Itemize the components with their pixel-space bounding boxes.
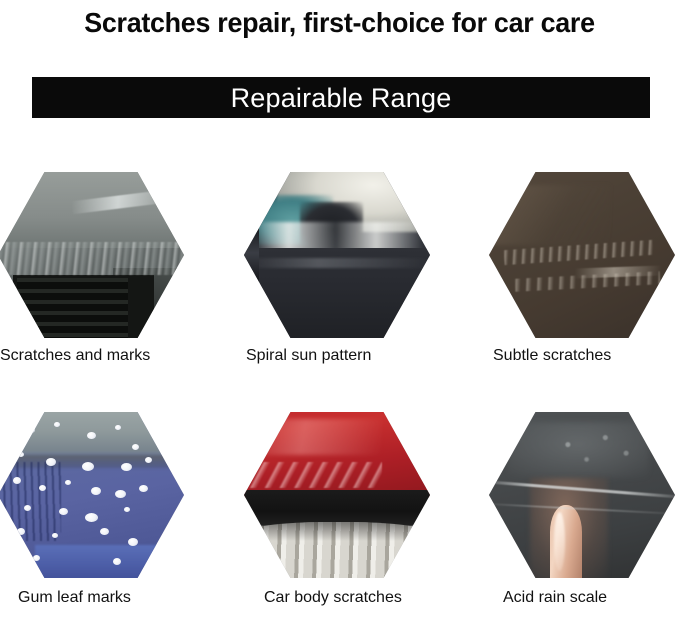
- grid-item-subtle-scratches: Subtle scratches: [473, 150, 679, 383]
- spot-mark: [65, 480, 71, 485]
- spot-mark: [145, 457, 152, 463]
- scratch-band: [0, 242, 184, 275]
- spot-mark: [39, 485, 46, 491]
- banner-label: Repairable Range: [231, 83, 452, 113]
- spot-mark: [132, 444, 139, 450]
- spot-mark: [82, 462, 94, 471]
- panel-edge: [244, 218, 259, 288]
- grid-item-scratches-and-marks: Scratches and marks: [0, 150, 208, 383]
- red-highlight: [251, 419, 381, 456]
- hex-image-car-body-scratches: [244, 412, 430, 578]
- hex-image-subtle-scratches: [489, 172, 675, 338]
- grille-slats: [17, 278, 129, 338]
- hex-clip: [0, 172, 184, 338]
- hex-clip: [244, 172, 430, 338]
- hex-clip: [489, 172, 675, 338]
- hex-image-scratches-and-marks: [0, 172, 184, 338]
- hex-clip: [489, 412, 675, 578]
- hex-clip: [244, 412, 430, 578]
- streak-texture: [0, 462, 61, 542]
- infographic-page: Scratches repair, first-choice for car c…: [0, 0, 679, 616]
- hex-image-acid-rain-scale: [489, 412, 675, 578]
- hex-clip: [0, 412, 184, 578]
- repairable-range-banner: Repairable Range: [32, 77, 650, 118]
- panel-highlight: [489, 185, 610, 245]
- item-caption: Car body scratches: [264, 588, 474, 608]
- grid-item-acid-rain-scale: Acid rain scale: [473, 390, 679, 623]
- spot-mark: [28, 427, 35, 433]
- spot-mark: [91, 487, 101, 495]
- red-scratch-streaks: [248, 462, 382, 489]
- spot-mark: [54, 422, 60, 427]
- item-caption: Gum leaf marks: [18, 588, 228, 608]
- item-caption: Subtle scratches: [493, 346, 679, 366]
- spot-mark: [17, 528, 25, 535]
- grid-item-spiral-sun-pattern: Spiral sun pattern: [228, 150, 454, 383]
- grid-item-gum-leaf-marks: Gum leaf marks: [0, 390, 208, 623]
- page-title: Scratches repair, first-choice for car c…: [14, 4, 666, 42]
- hex-image-spiral-sun-pattern: [244, 172, 430, 338]
- panel-sheen: [244, 258, 430, 268]
- spot-mark: [24, 505, 31, 511]
- item-caption: Spiral sun pattern: [246, 346, 456, 366]
- hexagon-grid: Scratches and marks Spiral sun pattern: [0, 150, 679, 616]
- spot-mark: [13, 477, 21, 484]
- panel-lower: [35, 545, 165, 578]
- item-caption: Acid rain scale: [503, 588, 679, 608]
- tyre-tread-shadow: [244, 522, 430, 542]
- grid-item-car-body-scratches: Car body scratches: [228, 390, 454, 623]
- scale-spots: [545, 429, 649, 469]
- swirl-smear: [255, 222, 422, 252]
- hex-image-gum-leaf-marks: [0, 412, 184, 578]
- item-caption: Scratches and marks: [0, 346, 210, 366]
